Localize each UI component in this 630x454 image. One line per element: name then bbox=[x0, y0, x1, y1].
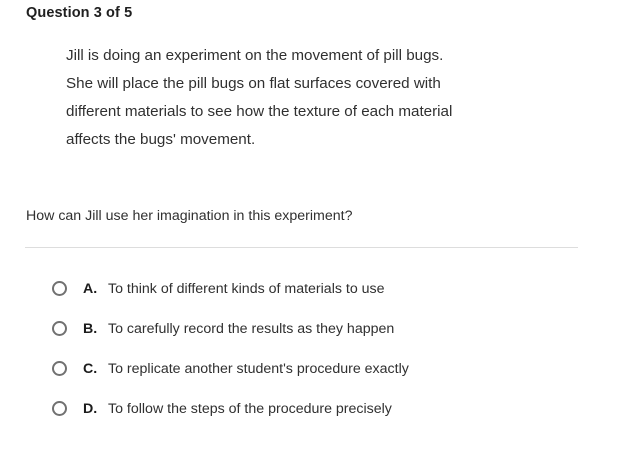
option-letter: B. bbox=[83, 321, 108, 337]
answer-options-list: A. To think of different kinds of materi… bbox=[52, 278, 572, 438]
answer-option-c[interactable]: C. To replicate another student's proced… bbox=[52, 358, 572, 379]
option-label: To think of different kinds of materials… bbox=[108, 281, 385, 297]
page-title: Question 3 of 5 bbox=[26, 5, 132, 21]
answer-option-b[interactable]: B. To carefully record the results as th… bbox=[52, 318, 572, 339]
option-label: To follow the steps of the procedure pre… bbox=[108, 401, 392, 417]
passage-line: affects the bugs' movement. bbox=[66, 126, 546, 154]
quiz-question-page: Question 3 of 5 Jill is doing an experim… bbox=[0, 0, 630, 454]
radio-button-icon[interactable] bbox=[52, 401, 67, 416]
option-letter: D. bbox=[83, 401, 108, 417]
passage-line: Jill is doing an experiment on the movem… bbox=[66, 42, 546, 70]
answer-option-d[interactable]: D. To follow the steps of the procedure … bbox=[52, 398, 572, 419]
option-label: To carefully record the results as they … bbox=[108, 321, 394, 337]
passage-line: different materials to see how the textu… bbox=[66, 98, 546, 126]
answer-option-a[interactable]: A. To think of different kinds of materi… bbox=[52, 278, 572, 299]
section-divider bbox=[25, 247, 578, 248]
option-label: To replicate another student's procedure… bbox=[108, 361, 409, 377]
option-letter: A. bbox=[83, 281, 108, 297]
radio-button-icon[interactable] bbox=[52, 321, 67, 336]
radio-button-icon[interactable] bbox=[52, 281, 67, 296]
option-letter: C. bbox=[83, 361, 108, 377]
passage-line: She will place the pill bugs on flat sur… bbox=[66, 70, 546, 98]
radio-button-icon[interactable] bbox=[52, 361, 67, 376]
question-passage: Jill is doing an experiment on the movem… bbox=[66, 42, 546, 154]
question-prompt: How can Jill use her imagination in this… bbox=[26, 206, 352, 226]
